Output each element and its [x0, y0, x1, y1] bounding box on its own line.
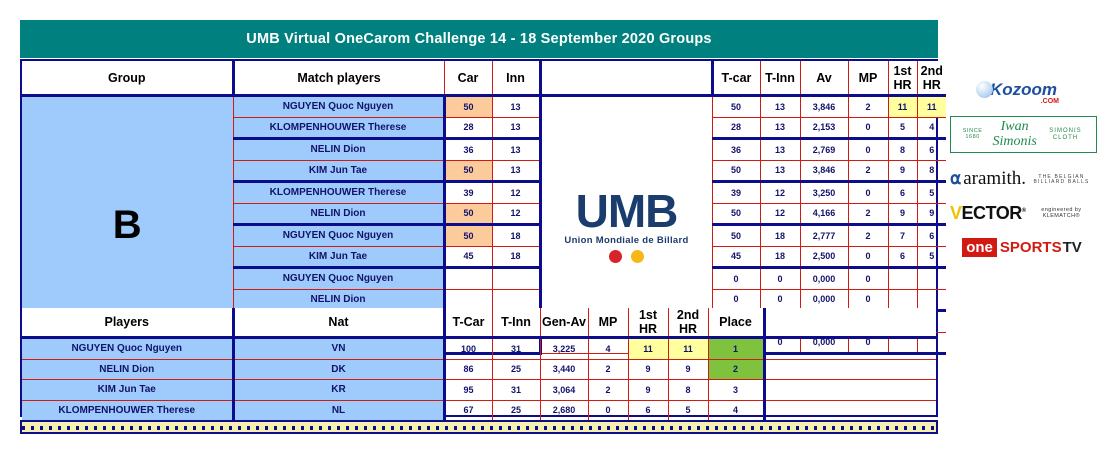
match-player-name: NGUYEN Quoc Nguyen: [233, 225, 444, 247]
page-title: UMB Virtual OneCarom Challenge 14 - 18 S…: [246, 31, 711, 47]
cell-t-car: 95: [444, 380, 492, 401]
cell-t-inn: 13: [760, 139, 800, 161]
standings-row-spacer: [764, 400, 936, 422]
cell-mp: 2: [588, 380, 628, 401]
cell-car: 39: [444, 182, 492, 204]
cell-av: 3,250: [800, 182, 848, 204]
cell-1st-hr: 8: [888, 139, 917, 161]
match-player-name: NELIN Dion: [233, 139, 444, 161]
col-header-spacer: [540, 61, 712, 96]
cell-2nd-hr: 8: [917, 160, 946, 182]
vector-registered-icon: ®: [1022, 208, 1026, 214]
cell-t-car: 50: [712, 225, 760, 247]
cell-inn: [492, 268, 540, 290]
standings-player-name: NGUYEN Quoc Nguyen: [22, 338, 233, 360]
page-title-band: UMB Virtual OneCarom Challenge 14 - 18 S…: [20, 20, 938, 58]
cell-2nd-hr: 5: [917, 246, 946, 268]
cell-t-inn: 13: [760, 117, 800, 139]
cell-t-inn: 18: [760, 225, 800, 247]
red-ball-icon: [609, 250, 622, 263]
table-row: KIM Jun Tae KR 95 31 3,064 2 9 8 3: [22, 380, 936, 401]
cell-mp: 0: [848, 182, 888, 204]
cell-t-car: 36: [712, 139, 760, 161]
standings-nat: VN: [233, 338, 444, 360]
sponsor-logo-column: Kozoom .COM SINCE 1680 Iwan Simonis SIMO…: [950, 80, 1097, 340]
cell-inn: 18: [492, 225, 540, 247]
cell-2nd-hr: 9: [668, 359, 708, 380]
cell-2nd-hr: 6: [917, 225, 946, 247]
aramith-wordmark: aramith.: [963, 169, 1026, 188]
col-header-mp: MP: [848, 61, 888, 96]
col-header-gen-av: Gen-Av: [540, 308, 588, 338]
cell-place: 3: [708, 380, 764, 401]
standings-nat: KR: [233, 380, 444, 401]
cell-t-inn: 25: [492, 400, 540, 422]
aramith-glyph-icon: ⍺: [950, 170, 961, 187]
col-header-inn: Inn: [492, 61, 540, 96]
aramith-top: ⍺ aramith.: [950, 169, 1026, 188]
cell-t-inn: 31: [492, 338, 540, 360]
cell-gen-av: 3,225: [540, 338, 588, 360]
standings-row-spacer: [764, 338, 936, 360]
cell-2nd-hr: 5: [668, 400, 708, 422]
match-player-name: NGUYEN Quoc Nguyen: [233, 96, 444, 118]
standings-header-spacer: [764, 308, 936, 338]
vector-byline: engineered by KLEMATCH®: [1026, 208, 1097, 219]
cell-t-inn: 13: [760, 96, 800, 118]
aramith-tagline: THE BELGIAN BILLIARD BALLS: [1026, 175, 1097, 185]
col-header-group: Group: [22, 61, 233, 96]
cell-mp: 0: [588, 400, 628, 422]
cell-mp: 0: [848, 246, 888, 268]
onesports-sports: SPORTS: [997, 238, 1063, 257]
cell-car: 45: [444, 246, 492, 268]
table-row: NGUYEN Quoc Nguyen VN 100 31 3,225 4 11 …: [22, 338, 936, 360]
cell-t-inn: 12: [760, 182, 800, 204]
col-header-1st-hr: 1st HR: [628, 308, 668, 338]
screenshot-root: UMB Virtual OneCarom Challenge 14 - 18 S…: [0, 0, 1097, 449]
onesports-tv: TV: [1063, 238, 1085, 257]
standings-nat: DK: [233, 359, 444, 380]
cell-inn: 13: [492, 160, 540, 182]
standings-row-spacer: [764, 380, 936, 401]
cell-t-car: 50: [712, 96, 760, 118]
col-header-av: Av: [800, 61, 848, 96]
col-header-car: Car: [444, 61, 492, 96]
cell-mp: 2: [848, 225, 888, 247]
yellow-ball-icon: [631, 250, 644, 263]
sponsor-kozoom-logo[interactable]: Kozoom .COM: [990, 80, 1057, 100]
cell-1st-hr: 11: [628, 338, 668, 360]
standings-player-name: KLOMPENHOUWER Therese: [22, 400, 233, 422]
cell-1st-hr: 9: [888, 160, 917, 182]
globe-icon: [976, 81, 993, 98]
cell-1st-hr: 9: [888, 203, 917, 225]
cell-av: 3,846: [800, 96, 848, 118]
cell-av: 2,777: [800, 225, 848, 247]
cell-mp: 2: [848, 160, 888, 182]
match-player-name: KIM Jun Tae: [233, 160, 444, 182]
cell-inn: 13: [492, 117, 540, 139]
col-header-t-car: T-car: [712, 61, 760, 96]
match-player-name: NELIN Dion: [233, 203, 444, 225]
standings-player-name: NELIN Dion: [22, 359, 233, 380]
cell-mp: 0: [848, 117, 888, 139]
simonis-cloth-label: SIMONIS CLOTH: [1043, 128, 1088, 141]
cell-av: 2,769: [800, 139, 848, 161]
cell-1st-hr: 6: [888, 246, 917, 268]
cell-inn: 18: [492, 246, 540, 268]
sponsor-onesportstv-logo[interactable]: one SPORTS TV: [962, 238, 1085, 257]
kozoom-wordmark: Kozoom: [990, 80, 1057, 100]
cell-2nd-hr: 6: [917, 139, 946, 161]
standings-table: Players Nat T-Car T-Inn Gen-Av MP 1st HR…: [22, 308, 936, 423]
cell-1st-hr: 5: [888, 117, 917, 139]
cell-inn: 13: [492, 139, 540, 161]
cell-inn: 13: [492, 96, 540, 118]
cell-place: 4: [708, 400, 764, 422]
cell-gen-av: 2,680: [540, 400, 588, 422]
sponsor-vector-logo[interactable]: VECTOR® engineered by KLEMATCH®: [950, 204, 1097, 222]
standings-player-name: KIM Jun Tae: [22, 380, 233, 401]
cell-2nd-hr: 4: [917, 117, 946, 139]
cell-t-inn: 18: [760, 246, 800, 268]
cell-t-car: 0: [712, 268, 760, 290]
match-player-name: KIM Jun Tae: [233, 246, 444, 268]
cell-1st-hr: 6: [888, 182, 917, 204]
cell-t-car: 28: [712, 117, 760, 139]
cell-t-inn: 25: [492, 359, 540, 380]
cell-car: 50: [444, 225, 492, 247]
sponsor-simonis-logo[interactable]: SINCE 1680 Iwan Simonis SIMONIS CLOTH: [950, 116, 1097, 153]
cell-av: 0,000: [800, 268, 848, 290]
cell-car: [444, 268, 492, 290]
cell-av: 2,153: [800, 117, 848, 139]
umb-wordmark: UMB: [576, 188, 678, 234]
col-header-2nd-hr: 2nd HR: [668, 308, 708, 338]
col-header-t-car: T-Car: [444, 308, 492, 338]
cell-av: 2,500: [800, 246, 848, 268]
cell-1st-hr: [888, 268, 917, 290]
cell-t-car: 50: [712, 203, 760, 225]
cell-inn: 12: [492, 182, 540, 204]
sponsor-aramith-logo[interactable]: ⍺ aramith. THE BELGIAN BILLIARD BALLS: [950, 169, 1097, 188]
col-header-match-players: Match players: [233, 61, 444, 96]
cell-av: 4,166: [800, 203, 848, 225]
cell-av: 3,846: [800, 160, 848, 182]
cell-car: 28: [444, 117, 492, 139]
vector-wordmark: VECTOR®: [950, 204, 1026, 222]
table-row: NELIN Dion DK 86 25 3,440 2 9 9 2: [22, 359, 936, 380]
standings-header-row: Players Nat T-Car T-Inn Gen-Av MP 1st HR…: [22, 308, 936, 338]
cell-t-car: 39: [712, 182, 760, 204]
cell-1st-hr: 11: [888, 96, 917, 118]
col-header-mp: MP: [588, 308, 628, 338]
table-row: B NGUYEN Quoc Nguyen 50 13 UMB Union Mon…: [22, 96, 946, 118]
col-header-2nd-hr: 2nd HR: [917, 61, 946, 96]
cell-place: 1: [708, 338, 764, 360]
vector-v-letter: V: [950, 203, 962, 223]
col-header-t-inn: T-Inn: [760, 61, 800, 96]
cell-t-inn: 0: [760, 268, 800, 290]
cell-2nd-hr: 8: [668, 380, 708, 401]
table-row: KLOMPENHOUWER Therese NL 67 25 2,680 0 6…: [22, 400, 936, 422]
cell-2nd-hr: 9: [917, 203, 946, 225]
standings-nat: NL: [233, 400, 444, 422]
cell-t-car: 67: [444, 400, 492, 422]
col-header-1st-hr: 1st HR: [888, 61, 917, 96]
cell-t-inn: 12: [760, 203, 800, 225]
match-player-name: KLOMPENHOUWER Therese: [233, 182, 444, 204]
cell-car: 50: [444, 203, 492, 225]
col-header-nat: Nat: [233, 308, 444, 338]
standings-row-spacer: [764, 359, 936, 380]
cell-mp: 0: [848, 268, 888, 290]
cell-2nd-hr: 5: [917, 182, 946, 204]
vector-rest: ECTOR: [962, 203, 1022, 223]
cell-mp: 2: [848, 203, 888, 225]
group-table-header-row: Group Match players Car Inn T-car T-Inn …: [22, 61, 946, 96]
cell-gen-av: 3,440: [540, 359, 588, 380]
cell-t-car: 50: [712, 160, 760, 182]
kozoom-dotcom: .COM: [1041, 98, 1059, 105]
bottom-decorative-strip: [20, 420, 938, 434]
umb-balls: [609, 250, 644, 263]
cell-mp: 2: [588, 359, 628, 380]
cell-mp: 2: [848, 96, 888, 118]
cell-2nd-hr: 11: [917, 96, 946, 118]
cell-inn: 12: [492, 203, 540, 225]
cell-mp: 0: [848, 139, 888, 161]
cell-t-inn: 13: [760, 160, 800, 182]
simonis-since: SINCE 1680: [959, 129, 986, 141]
cell-2nd-hr: 11: [668, 338, 708, 360]
cell-t-car: 100: [444, 338, 492, 360]
cell-t-inn: 31: [492, 380, 540, 401]
cell-place: 2: [708, 359, 764, 380]
cell-t-car: 45: [712, 246, 760, 268]
col-header-t-inn: T-Inn: [492, 308, 540, 338]
results-frame: Group Match players Car Inn T-car T-Inn …: [20, 59, 938, 417]
umb-subtitle: Union Mondiale de Billard: [564, 235, 688, 246]
col-header-players: Players: [22, 308, 233, 338]
cell-car: 50: [444, 160, 492, 182]
cell-2nd-hr: [917, 268, 946, 290]
match-player-name: NGUYEN Quoc Nguyen: [233, 268, 444, 290]
cell-mp: 4: [588, 338, 628, 360]
cell-1st-hr: 9: [628, 359, 668, 380]
match-player-name: KLOMPENHOUWER Therese: [233, 117, 444, 139]
onesports-one: one: [962, 238, 997, 257]
cell-1st-hr: 9: [628, 380, 668, 401]
cell-t-car: 86: [444, 359, 492, 380]
col-header-place: Place: [708, 308, 764, 338]
cell-1st-hr: 6: [628, 400, 668, 422]
cell-1st-hr: 7: [888, 225, 917, 247]
dashed-line: [22, 426, 936, 430]
cell-car: 36: [444, 139, 492, 161]
cell-car: 50: [444, 96, 492, 118]
simonis-signature: Iwan Simonis: [986, 120, 1043, 149]
cell-gen-av: 3,064: [540, 380, 588, 401]
